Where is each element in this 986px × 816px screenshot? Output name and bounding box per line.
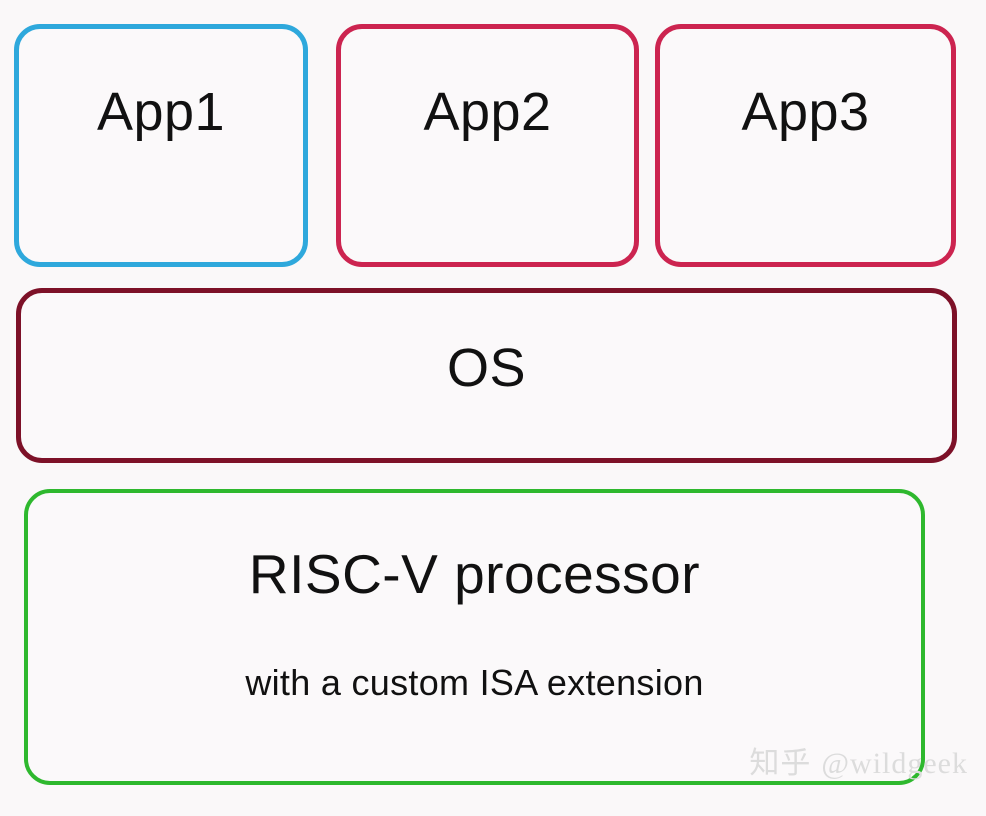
app1-box[interactable]: App1 — [14, 24, 308, 267]
app2-box[interactable]: App2 — [336, 24, 639, 267]
app1-label: App1 — [97, 85, 225, 139]
diagram-canvas: App1 App2 App3 OS RISC-V processor with … — [0, 0, 986, 816]
os-label: OS — [447, 341, 526, 395]
riscv-processor-label: RISC-V processor — [249, 547, 700, 602]
os-box[interactable]: OS — [16, 288, 957, 463]
app3-box[interactable]: App3 — [655, 24, 956, 267]
app2-label: App2 — [423, 85, 551, 139]
riscv-processor-box[interactable]: RISC-V processor with a custom ISA exten… — [24, 489, 925, 785]
app3-label: App3 — [741, 85, 869, 139]
riscv-isa-extension-sublabel: with a custom ISA extension — [245, 665, 703, 701]
